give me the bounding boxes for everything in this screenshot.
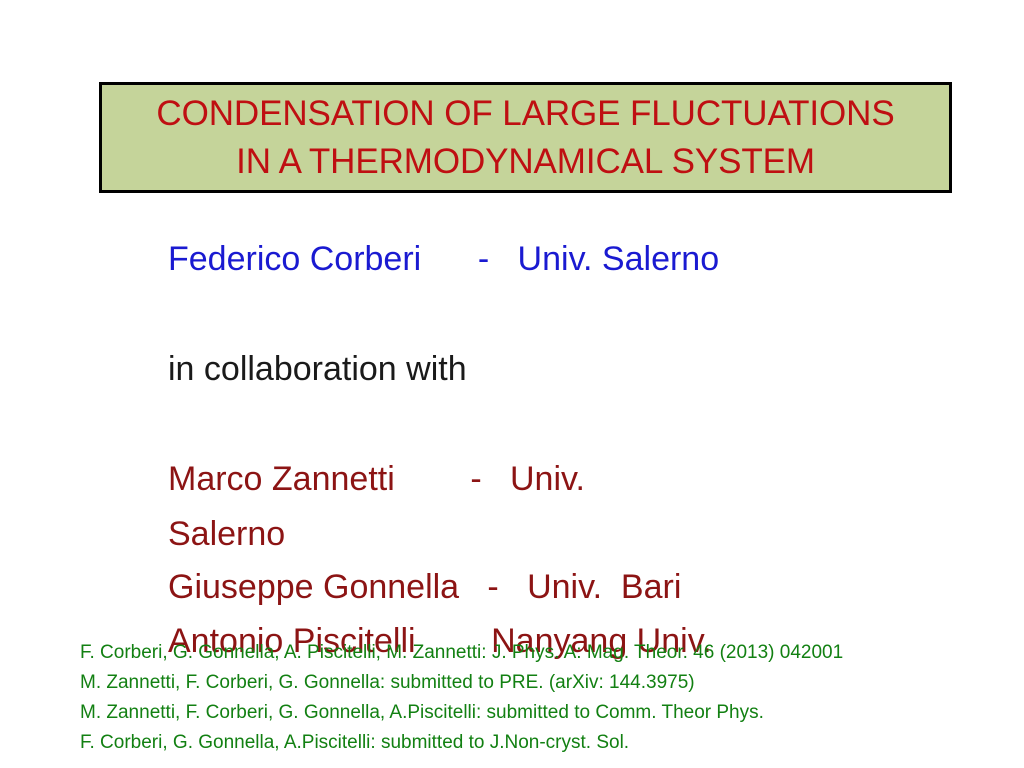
collaborator-zannetti-line2: Salerno	[168, 515, 285, 554]
references-block: F. Corberi, G. Gonnella, A. Piscitelli, …	[80, 638, 1024, 758]
title-line-2: IN A THERMODYNAMICAL SYSTEM	[236, 138, 815, 186]
presentation-slide: CONDENSATION OF LARGE FLUCTUATIONS IN A …	[0, 0, 1024, 768]
title-box: CONDENSATION OF LARGE FLUCTUATIONS IN A …	[99, 82, 952, 193]
reference-item: F. Corberi, G. Gonnella, A.Piscitelli: s…	[80, 728, 1024, 758]
collaborator-gonnella-line: Giuseppe Gonnella - Univ. Bari	[168, 568, 681, 607]
collaboration-label: in collaboration with	[168, 350, 467, 389]
collaborator-zannetti-line1: Marco Zannetti - Univ.	[168, 460, 585, 499]
title-line-1: CONDENSATION OF LARGE FLUCTUATIONS	[156, 90, 894, 138]
reference-item: F. Corberi, G. Gonnella, A. Piscitelli, …	[80, 638, 1024, 668]
reference-item: M. Zannetti, F. Corberi, G. Gonnella: su…	[80, 668, 1024, 698]
reference-item: M. Zannetti, F. Corberi, G. Gonnella, A.…	[80, 698, 1024, 728]
presenter-line: Federico Corberi - Univ. Salerno	[168, 240, 719, 279]
